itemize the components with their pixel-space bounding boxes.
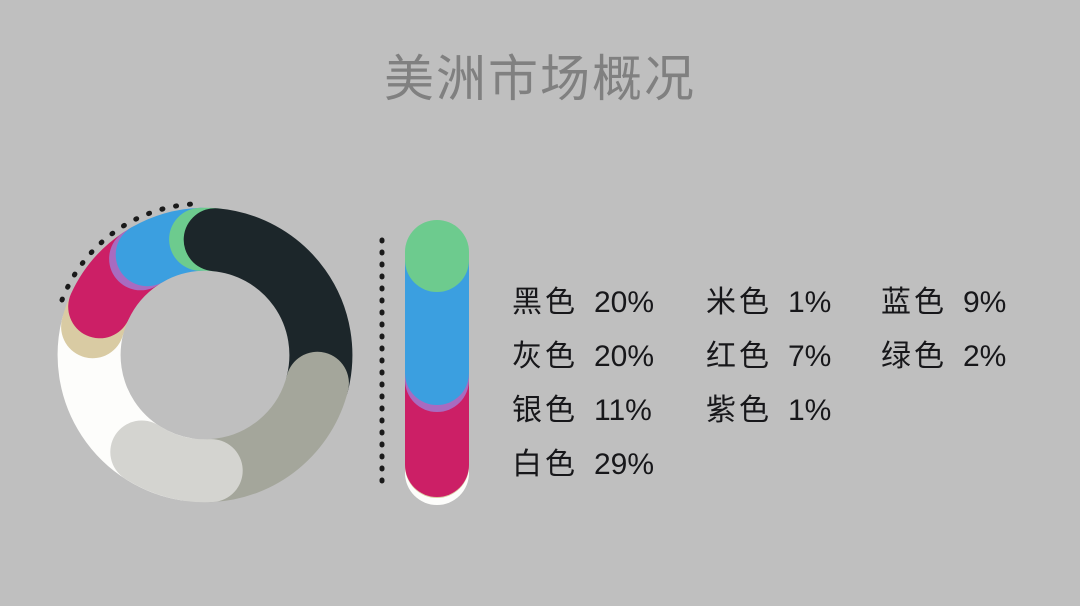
legend: 黑色 20% 米色 1% 蓝色 9% 灰色 20% 红色 7% 绿色 [512,272,1052,488]
legend-value: 29% [594,448,654,482]
legend-value: 20% [594,340,654,374]
legend-label: 黑色 [512,277,578,321]
legend-value: 11% [594,394,652,428]
legend-label: 米色 [706,277,772,321]
legend-item-blue: 蓝色 9% [881,277,1051,321]
legend-item-silver: 银色 11% [512,385,706,429]
legend-label: 绿色 [881,331,947,375]
legend-row: 灰色 20% 红色 7% 绿色 2% [512,326,1052,380]
donut-chart [48,192,378,522]
page-title: 美洲市场概况 [0,48,1080,110]
legend-item-black: 黑色 20% [512,277,706,321]
slide-canvas: 美洲市场概况 [0,0,1080,606]
legend-value: 2% [963,340,1006,374]
legend-label: 白色 [512,439,578,483]
legend-item-purple: 紫色 1% [706,385,881,429]
legend-value: 1% [788,286,831,320]
legend-item-red: 红色 7% [706,331,881,375]
legend-item-gray: 灰色 20% [512,331,706,375]
legend-value: 9% [963,286,1006,320]
legend-value: 20% [594,286,654,320]
legend-item-green: 绿色 2% [881,331,1051,375]
legend-value: 1% [788,394,831,428]
legend-row: 黑色 20% 米色 1% 蓝色 9% [512,272,1052,326]
legend-label: 蓝色 [881,277,947,321]
legend-row: 银色 11% 紫色 1% [512,380,1052,434]
legend-row: 白色 29% [512,434,1052,488]
legend-label: 红色 [706,331,772,375]
legend-item-white: 白色 29% [512,439,706,483]
legend-label: 灰色 [512,331,578,375]
legend-item-beige: 米色 1% [706,277,881,321]
donut-slice-silver [142,452,211,471]
legend-label: 紫色 [706,385,772,429]
stacked-bar-chart [366,210,486,520]
legend-label: 银色 [512,385,578,429]
legend-value: 7% [788,340,831,374]
